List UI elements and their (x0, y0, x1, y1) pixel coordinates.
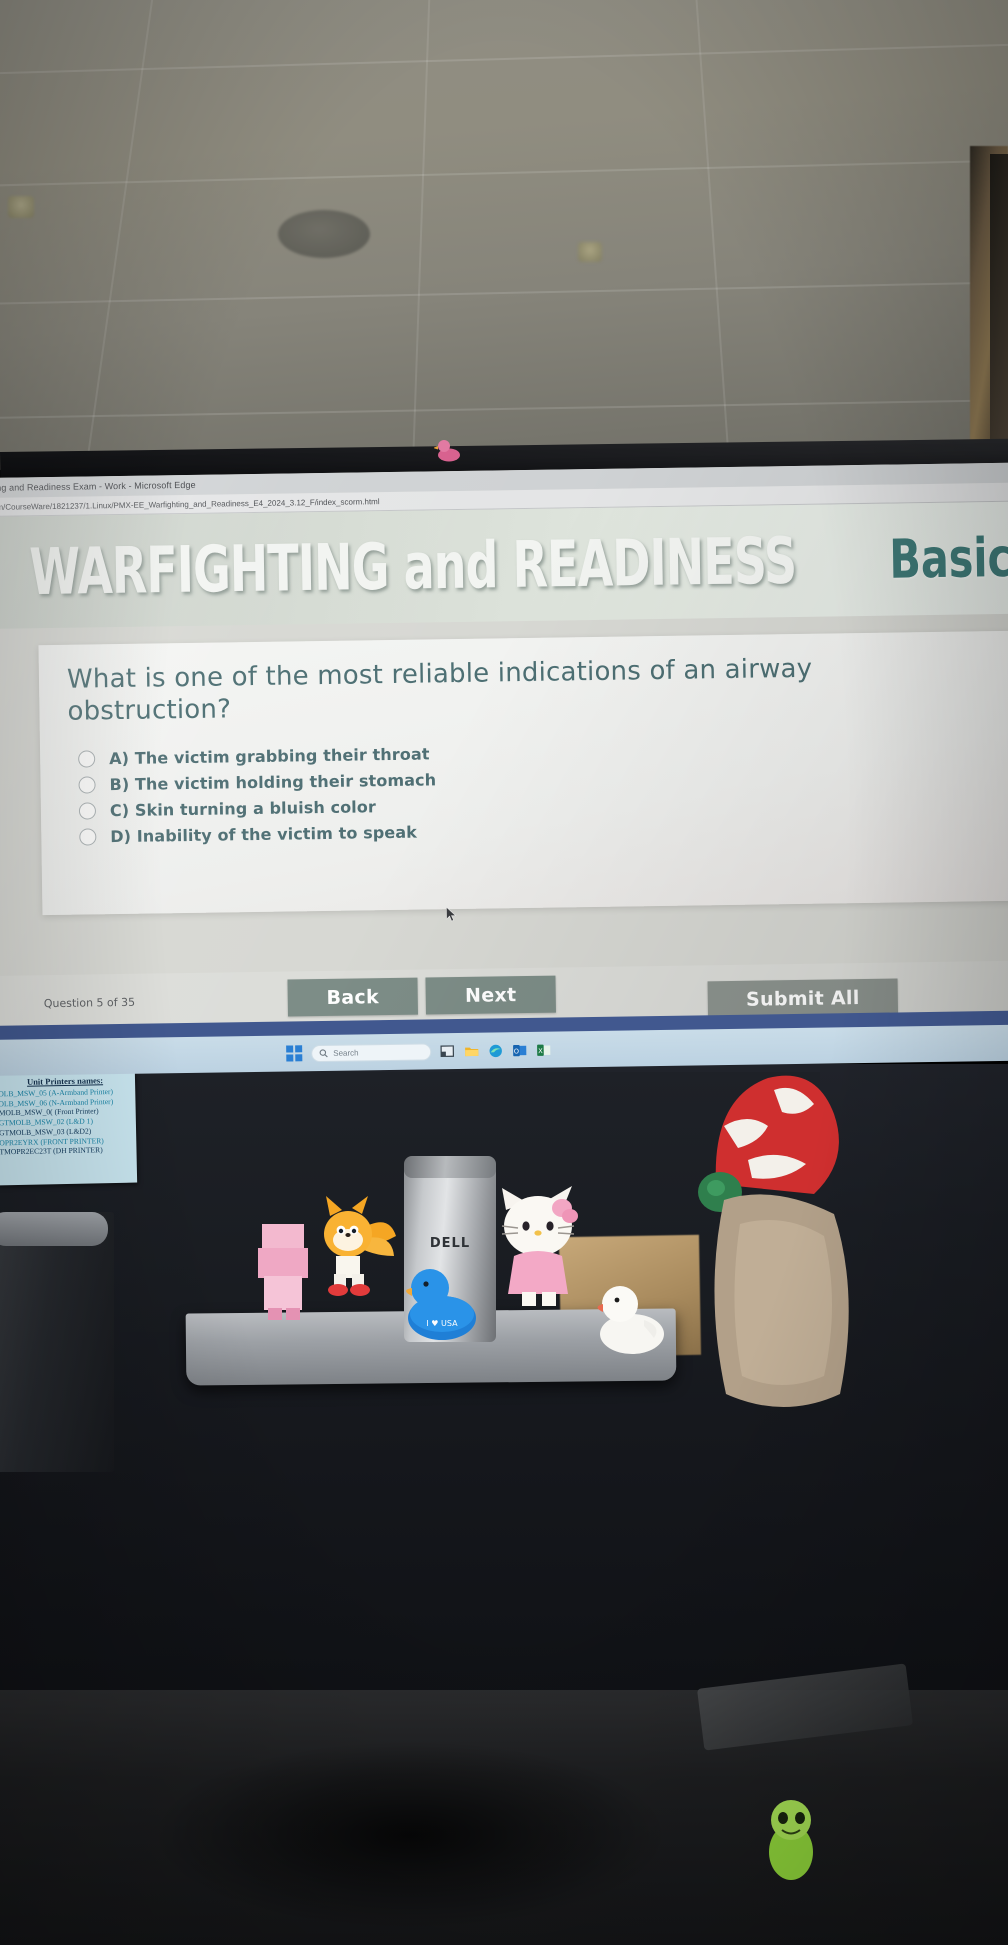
office-ceiling (0, 0, 1008, 470)
printer-name-line: TMOPR2EC23T (DH PRINTER) (0, 1145, 134, 1158)
edge-icon[interactable] (488, 1043, 503, 1058)
radio-button-icon[interactable] (78, 750, 95, 767)
tails-figurine (308, 1194, 400, 1304)
next-button[interactable]: Next (425, 976, 556, 1015)
radio-button-icon[interactable] (79, 802, 96, 819)
course-banner: WARFIGHTING and READINESS Basic First Ai… (0, 502, 1008, 629)
radio-button-icon[interactable] (79, 828, 96, 845)
back-button[interactable]: Back (287, 978, 418, 1017)
door-frame-inner (990, 154, 1008, 444)
taskview-icon[interactable] (440, 1044, 455, 1059)
search-icon (319, 1048, 328, 1057)
ceiling-tile-line (694, 0, 732, 470)
ceiling-tile-line (0, 157, 1008, 189)
svg-text:O: O (514, 1047, 519, 1055)
ceiling-tile-line (0, 41, 1008, 77)
sticky-note-heading: Unit Printers names: (0, 1075, 132, 1088)
file-explorer-icon[interactable] (464, 1043, 479, 1058)
course-title-main: WARFIGHTING and READINESS (29, 524, 797, 610)
ceiling-tile-line (0, 279, 1008, 306)
ceiling-light-fixture (8, 196, 34, 218)
quiz-question-card: What is one of the most reliable indicat… (38, 630, 1008, 915)
answer-option-label: A) The victim grabbing their throat (109, 744, 430, 768)
pink-block-figure (254, 1214, 316, 1324)
excel-icon[interactable]: X (536, 1042, 551, 1057)
svg-text:X: X (538, 1047, 543, 1055)
alien-toy (756, 1790, 826, 1886)
svg-text:I ♥ USA: I ♥ USA (426, 1319, 458, 1328)
answer-option-label: C) Skin turning a bluish color (110, 797, 376, 820)
search-placeholder-label: Search (333, 1048, 358, 1057)
mouse-cursor-icon (446, 907, 456, 922)
white-rubber-duck (592, 1276, 672, 1358)
santa-hat-plush (664, 1064, 864, 1444)
outlook-icon[interactable]: O (512, 1042, 527, 1057)
ceiling-tile-line (0, 397, 1008, 420)
ceiling-tile-line (411, 0, 431, 470)
answer-option-label: D) Inability of the victim to speak (110, 823, 417, 847)
sticky-note: Unit Printers names: OLB_MSW_05 (A-Armba… (0, 1071, 137, 1186)
tape-dispenser (0, 1212, 108, 1246)
dell-brand-label: DELL (404, 1236, 496, 1251)
ceiling-vent (278, 210, 370, 258)
tumbler-cap (404, 1156, 496, 1178)
printer-device (0, 1212, 114, 1472)
answer-options-list: A) The victim grabbing their throat B) T… (78, 732, 1008, 850)
pink-duck-on-monitor (434, 436, 464, 462)
screenshot-root: ing and Readiness Exam - Work - Microsof… (0, 0, 1008, 1945)
windows-start-icon[interactable] (286, 1045, 302, 1061)
radio-button-icon[interactable] (78, 776, 95, 793)
monitor-screen: ing and Readiness Exam - Work - Microsof… (0, 463, 1008, 1038)
ceiling-light-fixture (578, 242, 602, 262)
course-title-sub: Basic First Aid (888, 524, 1008, 591)
address-bar-url: ym/CourseWare/1821237/1.Linux/PMX-EE_War… (0, 497, 380, 512)
answer-option-label: B) The victim holding their stomach (109, 770, 436, 794)
question-text: What is one of the most reliable indicat… (38, 632, 919, 728)
desk-shadow (150, 1740, 670, 1930)
question-counter: Question 5 of 35 (44, 996, 135, 1010)
search-input[interactable]: Search (311, 1043, 431, 1062)
hello-kitty-figurine (488, 1182, 590, 1312)
blue-rubber-duck: I ♥ USA (398, 1260, 484, 1344)
browser-window-title: ing and Readiness Exam - Work - Microsof… (0, 480, 196, 493)
